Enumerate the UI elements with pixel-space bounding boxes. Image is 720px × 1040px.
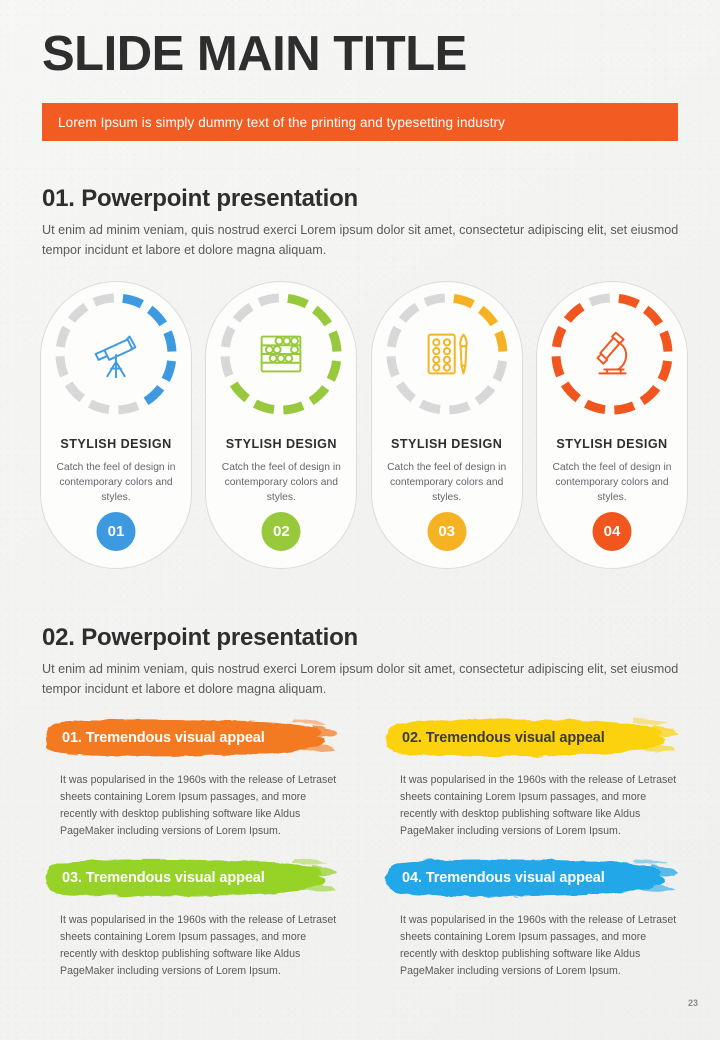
section-two: 02. Powerpoint presentation Ut enim ad m… [42,624,682,699]
feature-card-description: Catch the feel of design in contemporary… [54,460,178,506]
page-number: 23 [688,998,698,1008]
section-two-heading: 02. Powerpoint presentation [42,624,682,652]
feature-card-number-badge: 03 [427,512,466,551]
brush-item-description: It was popularised in the 1960s with the… [60,772,345,841]
feature-card[interactable]: STYLISH DESIGN Catch the feel of design … [40,281,192,569]
feature-card-description: Catch the feel of design in contemporary… [550,460,674,506]
progress-ring [548,290,676,418]
slide-canvas: SLIDE MAIN TITLE Lorem Ipsum is simply d… [0,0,720,1040]
feature-card[interactable]: STYLISH DESIGN Catch the feel of design … [205,281,357,569]
brush-item-description: It was popularised in the 1960s with the… [400,912,685,981]
feature-card-title: STYLISH DESIGN [60,437,171,451]
brush-item-description: It was popularised in the 1960s with the… [60,912,345,981]
feature-card[interactable]: STYLISH DESIGN Catch the feel of design … [536,281,688,569]
brush-item-label[interactable]: 03. Tremendous visual appeal [62,856,265,900]
brush-item-label[interactable]: 04. Tremendous visual appeal [402,856,605,900]
brush-stroke-shape: 01. Tremendous visual appeal [42,716,342,760]
microscope-icon [581,323,643,385]
section-two-body: Ut enim ad minim veniam, quis nostrud ex… [42,660,682,699]
feature-card-title: STYLISH DESIGN [226,437,337,451]
brush-item: 03. Tremendous visual appeal It was popu… [42,856,347,984]
brush-item: 04. Tremendous visual appeal It was popu… [382,856,687,984]
abacus-icon [250,323,312,385]
progress-ring [383,290,511,418]
brush-item-label[interactable]: 01. Tremendous visual appeal [62,716,265,760]
feature-card-number-badge: 02 [262,512,301,551]
progress-ring [217,290,345,418]
feature-card-title: STYLISH DESIGN [556,437,667,451]
brush-item: 02. Tremendous visual appeal It was popu… [382,716,687,844]
brush-item: 01. Tremendous visual appeal It was popu… [42,716,347,844]
feature-card-description: Catch the feel of design in contemporary… [385,460,509,506]
feature-card[interactable]: STYLISH DESIGN Catch the feel of design … [371,281,523,569]
brush-stroke-shape: 04. Tremendous visual appeal [382,856,682,900]
paint-palette-icon [416,323,478,385]
feature-card-description: Catch the feel of design in contemporary… [219,460,343,506]
section-one-body: Ut enim ad minim veniam, quis nostrud ex… [42,221,682,260]
feature-card-list: STYLISH DESIGN Catch the feel of design … [40,281,688,571]
brush-item-label[interactable]: 02. Tremendous visual appeal [402,716,605,760]
subtitle-banner: Lorem Ipsum is simply dummy text of the … [42,103,678,141]
brush-item-list: 01. Tremendous visual appeal It was popu… [42,716,687,984]
feature-card-number-badge: 04 [592,512,631,551]
telescope-icon [85,323,147,385]
page-title: SLIDE MAIN TITLE [42,30,467,79]
feature-card-number-badge: 01 [97,512,136,551]
brush-item-description: It was popularised in the 1960s with the… [400,772,685,841]
section-one: 01. Powerpoint presentation Ut enim ad m… [42,185,682,260]
brush-stroke-shape: 03. Tremendous visual appeal [42,856,342,900]
progress-ring [52,290,180,418]
section-one-heading: 01. Powerpoint presentation [42,185,682,213]
feature-card-title: STYLISH DESIGN [391,437,502,451]
brush-stroke-shape: 02. Tremendous visual appeal [382,716,682,760]
subtitle-text: Lorem Ipsum is simply dummy text of the … [58,115,505,130]
